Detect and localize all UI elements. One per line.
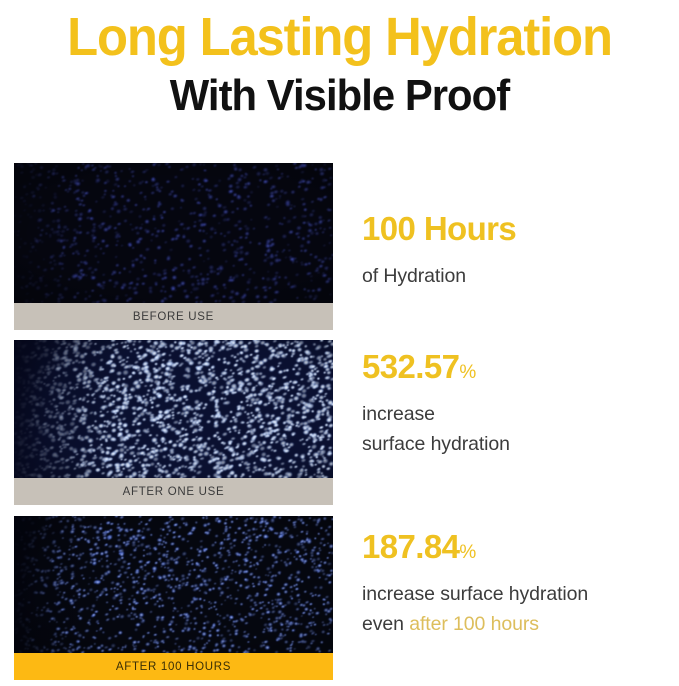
comparison-panel-after-one-use: AFTER ONE USE <box>14 340 333 505</box>
stat-number: 187.84 <box>362 528 459 565</box>
hydration-image-after-100-hours <box>14 516 333 653</box>
stat-unit: % <box>459 542 476 563</box>
stat-unit: % <box>459 362 476 383</box>
stat-number: 532.57 <box>362 348 459 385</box>
panel-caption-after-100-hours: AFTER 100 HOURS <box>14 653 333 680</box>
stat-desc-line-1: of Hydration <box>362 261 677 291</box>
panel-caption-before-use: BEFORE USE <box>14 303 333 330</box>
stat-desc-line-2: surface hydration <box>362 429 677 459</box>
stat-description-first-use: increase surface hydration <box>362 399 677 459</box>
headline-secondary: With Visible Proof <box>17 72 662 120</box>
comparison-panel-before-use: BEFORE USE <box>14 163 333 330</box>
headline-block: Long Lasting Hydration With Visible Proo… <box>0 0 679 120</box>
stat-desc-plain: even <box>362 613 409 635</box>
stat-block-first-use: 532.57% increase surface hydration <box>362 348 677 459</box>
hydration-image-after-one-use <box>14 340 333 478</box>
stat-desc-highlight: after 100 hours <box>409 613 539 635</box>
panel-caption-after-one-use: AFTER ONE USE <box>14 478 333 505</box>
headline-primary: Long Lasting Hydration <box>20 8 658 66</box>
speckle-texture-icon <box>14 340 333 478</box>
stat-value-hours: 100 Hours <box>362 210 677 254</box>
speckle-texture-icon <box>14 516 333 653</box>
stat-value-long-lasting: 187.84% <box>362 528 677 572</box>
comparison-panel-after-100-hours: AFTER 100 HOURS <box>14 516 333 680</box>
stat-description-hours: of Hydration <box>362 261 677 291</box>
speckle-texture-icon <box>14 163 333 303</box>
hydration-image-before-use <box>14 163 333 303</box>
stat-desc-line-1: increase <box>362 399 677 429</box>
stat-block-long-lasting: 187.84% increase surface hydration even … <box>362 528 677 639</box>
stat-description-long-lasting: increase surface hydration even after 10… <box>362 579 677 639</box>
stat-block-hours: 100 Hours of Hydration <box>362 210 677 291</box>
stat-value-first-use: 532.57% <box>362 348 677 392</box>
stat-desc-line-1: increase surface hydration <box>362 579 677 609</box>
hydration-infographic: Long Lasting Hydration With Visible Proo… <box>0 0 679 686</box>
stat-number: 100 Hours <box>362 210 516 247</box>
stat-desc-line-2: even after 100 hours <box>362 609 677 639</box>
